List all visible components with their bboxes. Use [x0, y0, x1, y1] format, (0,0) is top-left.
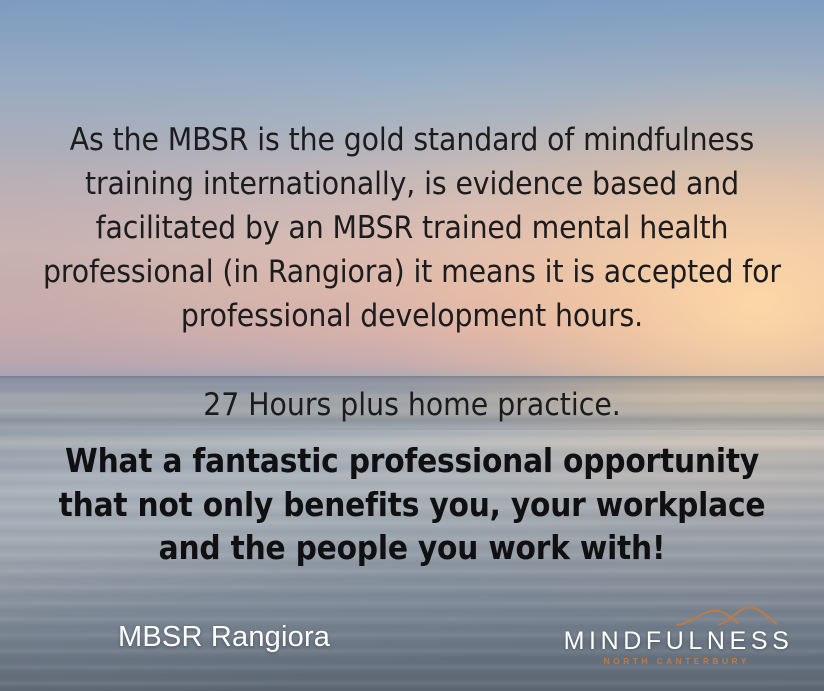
poster: As the MBSR is the gold standard of mind…: [0, 0, 824, 691]
poster-content: As the MBSR is the gold standard of mind…: [0, 0, 824, 691]
provider-name: MBSR Rangiora: [118, 620, 330, 654]
headline-line-1: What a fantastic professional opportunit…: [24, 439, 800, 483]
logo-subline: NORTH CANTERBURY: [559, 655, 791, 667]
hours-statement: 27 Hours plus home practice.: [0, 385, 824, 425]
mindfulness-north-canterbury-logo: MINDFULNESS NORTH CANTERBURY: [559, 600, 791, 680]
body-paragraph: As the MBSR is the gold standard of mind…: [0, 118, 824, 338]
headline-line-3: and the people you work with!: [24, 526, 800, 570]
logo-wordmark: MINDFULNESS: [559, 626, 791, 656]
headline-block: What a fantastic professional opportunit…: [0, 439, 824, 570]
headline-line-2: that not only benefits you, your workpla…: [24, 483, 800, 527]
